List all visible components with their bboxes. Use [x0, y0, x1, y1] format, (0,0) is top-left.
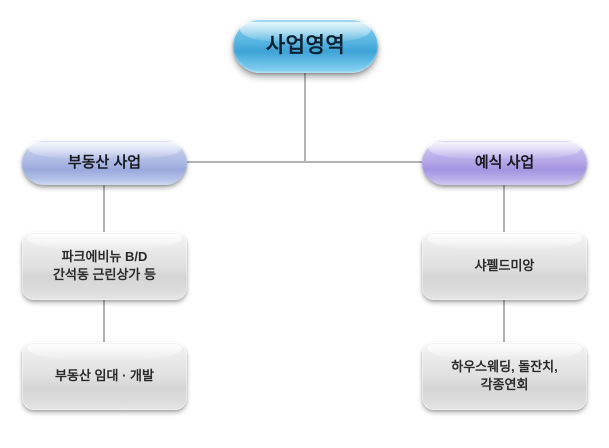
node-branch-wedding-label: 예식 사업	[475, 152, 534, 173]
node-branch-real-estate-label: 부동산 사업	[68, 152, 141, 173]
node-leaf-park-avenue-bd-label: 파크에비뉴 B/D 간석동 근린상가 등	[53, 248, 156, 285]
node-branch-real-estate[interactable]: 부동산 사업	[22, 140, 187, 185]
node-leaf-park-avenue-bd[interactable]: 파크에비뉴 B/D 간석동 근린상가 등	[22, 232, 187, 300]
node-leaf-house-wedding-events[interactable]: 하우스웨딩, 돌잔치, 각종연회	[422, 342, 587, 410]
node-leaf-house-wedding-events-label: 하우스웨딩, 돌잔치, 각종연회	[451, 358, 558, 395]
node-branch-wedding[interactable]: 예식 사업	[422, 140, 587, 185]
connector-right-leaf1-to-leaf2	[503, 300, 505, 343]
node-leaf-real-estate-lease-development[interactable]: 부동산 임대 · 개발	[22, 342, 187, 410]
node-root-business-areas[interactable]: 사업영역	[233, 19, 378, 73]
node-leaf-chapelle-de-miang[interactable]: 샤펠드미앙	[422, 232, 587, 300]
node-leaf-chapelle-de-miang-label: 샤펠드미앙	[475, 257, 535, 275]
connector-left-branch-to-leaf1	[103, 184, 105, 233]
node-root-label: 사업영역	[266, 31, 345, 61]
node-leaf-real-estate-lease-development-label: 부동산 임대 · 개발	[55, 367, 154, 385]
org-chart-canvas: 사업영역 부동산 사업 예식 사업 파크에비뉴 B/D 간석동 근린상가 등 부…	[0, 0, 609, 448]
connector-right-branch-to-leaf1	[503, 184, 505, 233]
connector-root-stem	[304, 72, 306, 162]
connector-branch-bar	[186, 161, 422, 163]
connector-left-leaf1-to-leaf2	[103, 300, 105, 343]
